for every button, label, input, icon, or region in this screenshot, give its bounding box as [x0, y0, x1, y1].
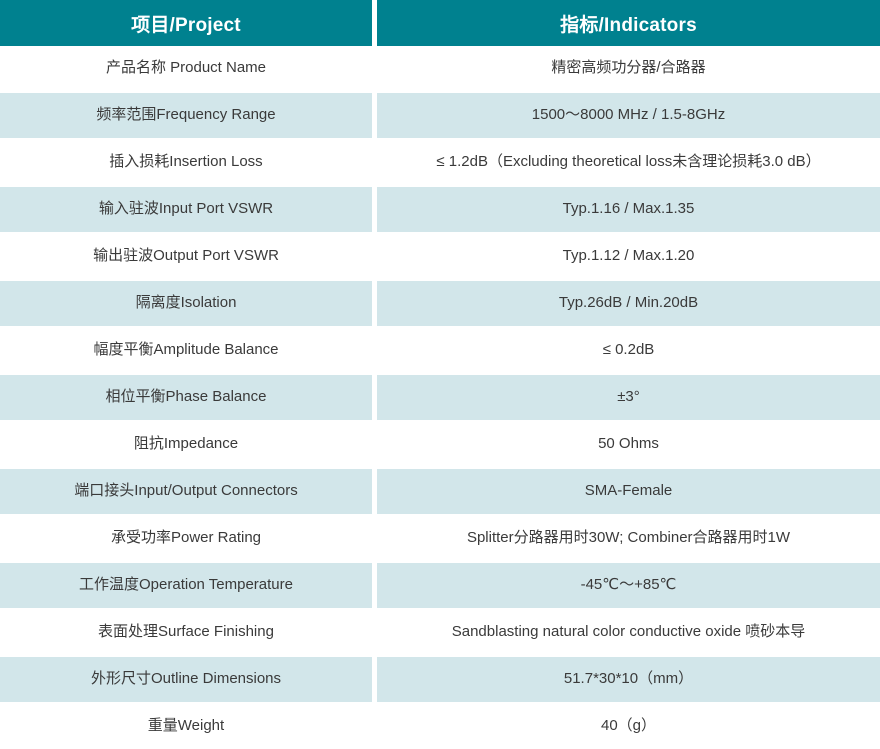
cell-project: 端口接头Input/Output Connectors: [0, 469, 372, 516]
cell-project: 插入损耗Insertion Loss: [0, 140, 372, 187]
cell-project: 输出驻波Output Port VSWR: [0, 234, 372, 281]
table-row: 输入驻波Input Port VSWRTyp.1.16 / Max.1.35: [0, 187, 880, 234]
column-header-indicators: 指标/Indicators: [377, 0, 880, 46]
table-row: 输出驻波Output Port VSWRTyp.1.12 / Max.1.20: [0, 234, 880, 281]
specifications-table: 项目/Project 指标/Indicators 产品名称 Product Na…: [0, 0, 880, 749]
table-row: 插入损耗Insertion Loss≤ 1.2dB（Excluding theo…: [0, 140, 880, 187]
table-row: 表面处理Surface FinishingSandblasting natura…: [0, 610, 880, 657]
cell-indicator: SMA-Female: [377, 469, 880, 516]
table-header: 项目/Project 指标/Indicators: [0, 0, 880, 46]
cell-indicator: 50 Ohms: [377, 422, 880, 469]
table-row: 阻抗Impedance50 Ohms: [0, 422, 880, 469]
table-body: 产品名称 Product Name精密高频功分器/合路器频率范围Frequenc…: [0, 46, 880, 749]
table-row: 频率范围Frequency Range1500～8000 MHz / 1.5-8…: [0, 93, 880, 140]
cell-indicator: 1500～8000 MHz / 1.5-8GHz: [377, 93, 880, 140]
cell-indicator: Sandblasting natural color conductive ox…: [377, 610, 880, 657]
cell-project: 输入驻波Input Port VSWR: [0, 187, 372, 234]
cell-project: 隔离度Isolation: [0, 281, 372, 328]
table-header-row: 项目/Project 指标/Indicators: [0, 0, 880, 46]
table-row: 端口接头Input/Output ConnectorsSMA-Female: [0, 469, 880, 516]
cell-indicator: ≤ 0.2dB: [377, 328, 880, 375]
cell-project: 频率范围Frequency Range: [0, 93, 372, 140]
cell-project: 表面处理Surface Finishing: [0, 610, 372, 657]
cell-indicator: 51.7*30*10（mm）: [377, 657, 880, 704]
cell-indicator: Splitter分路器用时30W; Combiner合路器用时1W: [377, 516, 880, 563]
table-row: 产品名称 Product Name精密高频功分器/合路器: [0, 46, 880, 93]
table-row: 相位平衡Phase Balance±3°: [0, 375, 880, 422]
column-header-project: 项目/Project: [0, 0, 372, 46]
cell-indicator: 精密高频功分器/合路器: [377, 46, 880, 93]
cell-indicator: ≤ 1.2dB（Excluding theoretical loss未含理论损耗…: [377, 140, 880, 187]
table-row: 承受功率Power RatingSplitter分路器用时30W; Combin…: [0, 516, 880, 563]
cell-indicator: 40（g）: [377, 704, 880, 749]
table-row: 工作温度Operation Temperature-45℃～+85℃: [0, 563, 880, 610]
cell-indicator: ±3°: [377, 375, 880, 422]
cell-project: 重量Weight: [0, 704, 372, 749]
cell-indicator: -45℃～+85℃: [377, 563, 880, 610]
cell-project: 产品名称 Product Name: [0, 46, 372, 93]
cell-project: 承受功率Power Rating: [0, 516, 372, 563]
cell-indicator: Typ.1.16 / Max.1.35: [377, 187, 880, 234]
table-row: 幅度平衡Amplitude Balance≤ 0.2dB: [0, 328, 880, 375]
table-row: 隔离度IsolationTyp.26dB / Min.20dB: [0, 281, 880, 328]
cell-project: 阻抗Impedance: [0, 422, 372, 469]
table-row: 外形尺寸Outline Dimensions51.7*30*10（mm）: [0, 657, 880, 704]
cell-project: 幅度平衡Amplitude Balance: [0, 328, 372, 375]
cell-indicator: Typ.26dB / Min.20dB: [377, 281, 880, 328]
cell-project: 相位平衡Phase Balance: [0, 375, 372, 422]
cell-project: 外形尺寸Outline Dimensions: [0, 657, 372, 704]
table-row: 重量Weight40（g）: [0, 704, 880, 749]
cell-project: 工作温度Operation Temperature: [0, 563, 372, 610]
cell-indicator: Typ.1.12 / Max.1.20: [377, 234, 880, 281]
